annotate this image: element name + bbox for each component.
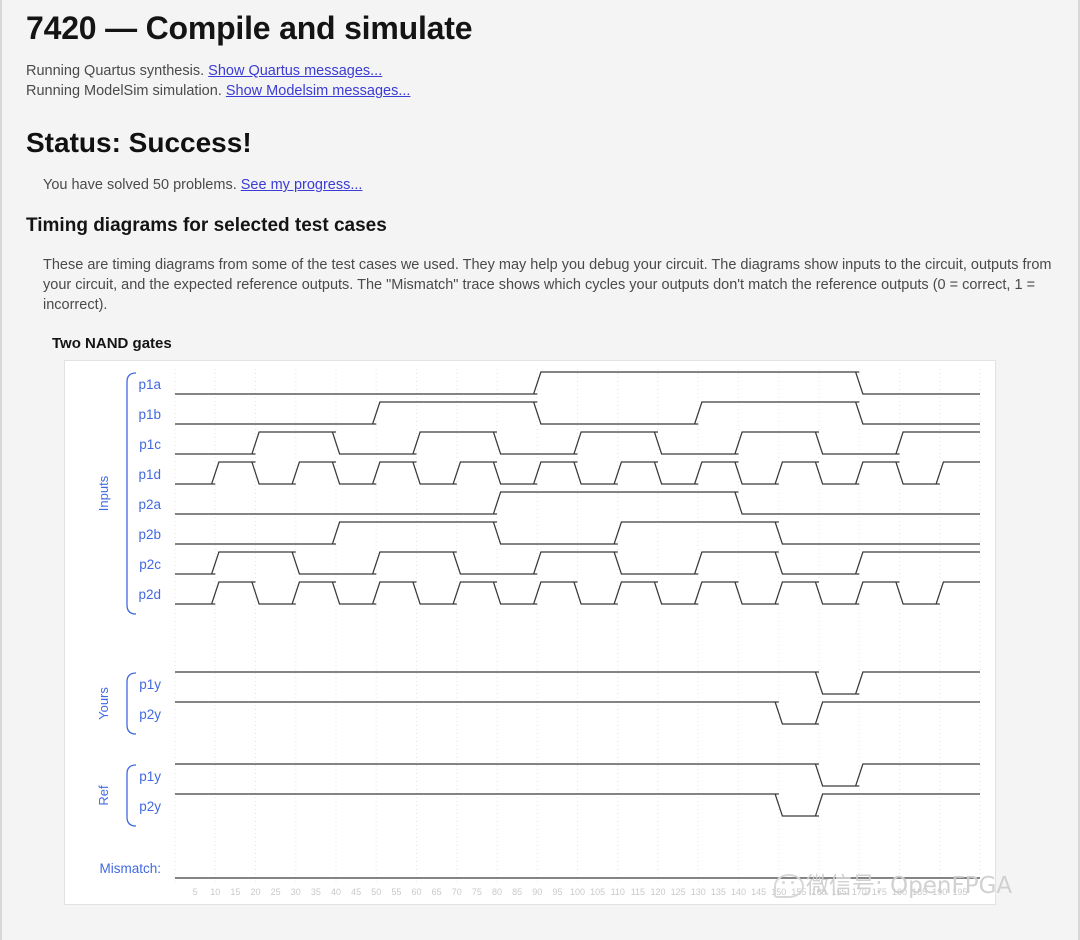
group-brace-yours <box>127 673 136 734</box>
x-tick-label: 120 <box>650 887 665 897</box>
x-tick-label: 110 <box>611 887 625 897</box>
x-tick-label: 115 <box>631 887 645 897</box>
run-status-block: Running Quartus synthesis. Show Quartus … <box>26 61 1054 101</box>
grid-lines <box>175 369 980 882</box>
modelsim-status-text: Running ModelSim simulation. <box>26 83 222 99</box>
x-tick-label: 135 <box>711 887 726 897</box>
x-tick-label: 190 <box>932 887 947 897</box>
x-tick-label: 50 <box>371 887 381 897</box>
group-label-yours: Yours <box>96 687 111 720</box>
signal-label-inputs-p1c: p1c <box>139 437 161 452</box>
signal-label-inputs-p2d: p2d <box>138 587 161 602</box>
x-tick-label: 5 <box>193 887 198 897</box>
status-heading: Status: Success! <box>26 127 1054 159</box>
signal-label-inputs-p2c: p2c <box>139 557 161 572</box>
x-tick-label: 185 <box>912 887 927 897</box>
x-tick-label: 85 <box>512 887 522 897</box>
solved-problems-line: You have solved 50 problems. See my prog… <box>43 177 1054 193</box>
wave-trace-yours-p1y <box>175 672 980 694</box>
group-brace-ref <box>127 765 136 826</box>
x-tick-label: 195 <box>952 887 967 897</box>
signal-label-ref-p2y: p2y <box>139 799 161 814</box>
wave-trace-inputs-p1a <box>175 372 980 394</box>
solved-problems-text: You have solved 50 problems. <box>43 177 237 193</box>
waveform-canvas[interactable]: p1ap1bp1cp1dp2ap2bp2cp2dp1yp2yp1yp2yMism… <box>65 361 995 904</box>
x-tick-label: 25 <box>271 887 281 897</box>
x-tick-label: 150 <box>771 887 786 897</box>
signal-label-yours-p1y: p1y <box>139 677 161 692</box>
test-case-title: Two NAND gates <box>52 335 1054 352</box>
x-tick-label: 100 <box>570 887 585 897</box>
see-my-progress-link[interactable]: See my progress... <box>241 177 363 193</box>
x-tick-label: 180 <box>892 887 907 897</box>
x-tick-label: 75 <box>472 887 482 897</box>
group-brackets: InputsYoursRef <box>96 373 136 826</box>
show-modelsim-messages-link[interactable]: Show Modelsim messages... <box>226 83 411 99</box>
x-tick-label: 35 <box>311 887 321 897</box>
timing-section-title: Timing diagrams for selected test cases <box>26 215 1054 237</box>
x-tick-label: 65 <box>432 887 442 897</box>
page-content: 7420 — Compile and simulate Running Quar… <box>2 10 1078 905</box>
signal-label-inputs-p2b: p2b <box>138 527 161 542</box>
page-title: 7420 — Compile and simulate <box>26 10 1054 47</box>
x-tick-label: 90 <box>532 887 542 897</box>
x-tick-label: 80 <box>492 887 502 897</box>
group-brace-inputs <box>127 373 136 614</box>
x-tick-label: 10 <box>210 887 220 897</box>
x-tick-label: 125 <box>671 887 686 897</box>
show-quartus-messages-link[interactable]: Show Quartus messages... <box>208 63 382 79</box>
mismatch-label: Mismatch: <box>99 861 161 876</box>
x-tick-label: 155 <box>791 887 806 897</box>
x-tick-label: 70 <box>452 887 462 897</box>
x-tick-label: 15 <box>230 887 240 897</box>
signal-label-ref-p1y: p1y <box>139 769 161 784</box>
x-tick-label: 170 <box>852 887 867 897</box>
x-tick-label: 105 <box>590 887 605 897</box>
signal-label-inputs-p1a: p1a <box>138 377 161 392</box>
signal-label-inputs-p2a: p2a <box>138 497 161 512</box>
x-tick-label: 20 <box>250 887 260 897</box>
quartus-status-text: Running Quartus synthesis. <box>26 63 204 79</box>
x-tick-label: 130 <box>691 887 706 897</box>
x-tick-label: 160 <box>811 887 826 897</box>
x-tick-label: 165 <box>832 887 847 897</box>
x-tick-label: 40 <box>331 887 341 897</box>
page-root: 7420 — Compile and simulate Running Quar… <box>0 0 1080 940</box>
x-tick-label: 55 <box>391 887 401 897</box>
modelsim-line: Running ModelSim simulation. Show Models… <box>26 81 1054 101</box>
quartus-line: Running Quartus synthesis. Show Quartus … <box>26 61 1054 81</box>
wave-trace-ref-p1y <box>175 764 980 786</box>
group-label-inputs: Inputs <box>96 475 111 511</box>
signal-label-inputs-p1d: p1d <box>138 467 161 482</box>
x-axis-ticks: 5101520253035404550556065707580859095100… <box>193 887 968 897</box>
wave-trace-inputs-p2c <box>175 552 980 574</box>
x-tick-label: 175 <box>872 887 887 897</box>
signal-label-yours-p2y: p2y <box>139 707 161 722</box>
wave-trace-inputs-p1c <box>175 432 980 454</box>
timing-description: These are timing diagrams from some of t… <box>43 255 1054 315</box>
group-label-ref: Ref <box>96 785 111 806</box>
x-tick-label: 145 <box>751 887 766 897</box>
signal-label-inputs-p1b: p1b <box>138 407 161 422</box>
x-tick-label: 95 <box>552 887 562 897</box>
x-tick-label: 45 <box>351 887 361 897</box>
x-tick-label: 60 <box>411 887 421 897</box>
wave-trace-inputs-p2a <box>175 492 980 514</box>
timing-diagram-panel: p1ap1bp1cp1dp2ap2bp2cp2dp1yp2yp1yp2yMism… <box>64 360 996 905</box>
x-tick-label: 30 <box>291 887 301 897</box>
x-tick-label: 140 <box>731 887 746 897</box>
